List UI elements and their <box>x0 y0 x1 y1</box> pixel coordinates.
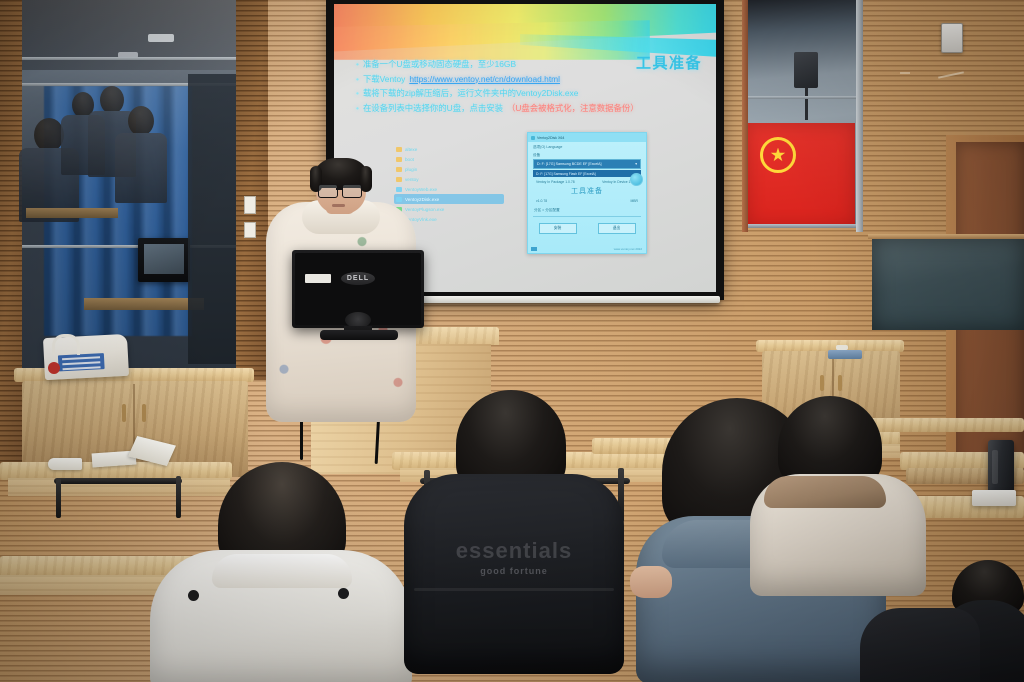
wall-pillar-left <box>0 0 24 470</box>
chevron-down-icon: ▾ <box>635 162 637 166</box>
device-dropdown-option[interactable]: D: F: [17G] Samsung Flash EF [ExcelA] <box>533 170 641 177</box>
star-icon <box>771 148 786 163</box>
cabinet-right-handle-icon-2[interactable] <box>838 375 842 391</box>
dialog-menubar[interactable]: 选项(O) Language <box>528 142 646 151</box>
tote-bag-handle <box>52 334 80 355</box>
status-indicator <box>531 247 537 251</box>
bullet-warning-text: （U盘会被格式化，注意数据备份） <box>507 102 639 116</box>
window-frame-vertical-left <box>742 0 748 232</box>
presenter-mouth <box>332 204 345 207</box>
communist-youth-league-flag <box>748 123 855 227</box>
student-black-jacket: essentials good fortune <box>404 390 654 682</box>
footer-text: www.ventoy.net 2022 <box>614 247 642 251</box>
blackboard-frame <box>868 234 1024 239</box>
speaker-mount <box>805 88 808 120</box>
dialog-big-text: 工具准备 <box>528 184 646 196</box>
bottle-stripe <box>992 450 998 484</box>
chalk <box>836 345 848 350</box>
monitor-asset-tag <box>305 274 331 283</box>
student-jacket <box>860 608 980 682</box>
version-package: Ventoy In Package 1.0.78 <box>536 180 575 184</box>
app-icon <box>531 136 535 140</box>
dialog-titlebar: Ventoy2Disk X64 <box>528 133 646 142</box>
student-white-jacket <box>150 462 410 682</box>
jacket-collar <box>212 554 352 588</box>
flag-star-emblem <box>760 137 796 173</box>
wall-control-panel[interactable] <box>941 23 963 53</box>
student-cream-jacket <box>756 396 936 596</box>
wall-speaker <box>794 52 818 88</box>
dialog-button-row: 安装 退出 <box>528 217 646 234</box>
exit-button[interactable]: 退出 <box>598 223 636 234</box>
bullet-marker: • <box>356 87 359 101</box>
sub-version-left: v1.0.78 <box>536 199 547 203</box>
red-keychain <box>48 362 60 374</box>
bullet-item-2: • 下载Ventoy https://www.ventoy.net/cn/dow… <box>356 73 656 87</box>
folder-icon <box>396 147 402 152</box>
jacket-toggle-2 <box>338 588 349 599</box>
install-button[interactable]: 安装 <box>539 223 577 234</box>
student-bottom-right <box>860 600 980 682</box>
version-row: Ventoy In Package 1.0.78 Ventoy In Devic… <box>528 177 646 184</box>
jacket-seam <box>414 588 614 591</box>
thermos-bottle <box>988 440 1014 494</box>
wall-scratch-2 <box>900 72 910 74</box>
device-combobox[interactable]: D: F: [17G] Samsung BCDE EF [ExcelA] ▾ <box>533 159 641 169</box>
presenter-glasses-bridge <box>336 188 342 190</box>
monitor-stand-base <box>320 330 398 340</box>
ventoy-download-link[interactable]: https://www.ventoy.net/cn/download.html <box>409 73 560 87</box>
tote-bag-print <box>58 353 105 371</box>
sub-version-right: MBR <box>630 199 638 203</box>
dell-logo: DELL <box>341 272 375 285</box>
reflected-doorway <box>188 74 236 364</box>
cabinet-handle-icon[interactable] <box>122 404 126 422</box>
wall-notice-small-2 <box>244 222 256 238</box>
bullet-item-4: • 在设备列表中选择你的U盘，点击安装 （U盘会被格式化，注意数据备份） <box>356 102 656 116</box>
cabinet-handle-icon-2[interactable] <box>142 404 146 422</box>
bullet-item-3: • 载将下载的zip解压缩后，运行文件夹中的Ventoy2Disk.exe <box>356 87 656 101</box>
bullet-item-1: • 准备一个U盘或移动固态硬盘，至少16GB <box>356 58 656 72</box>
bullet-marker: • <box>356 73 359 87</box>
wall-notice-small <box>244 196 256 214</box>
bullet-text: 在设备列表中选择你的U盘，点击安装 <box>363 102 503 116</box>
bullet-marker: • <box>356 102 359 116</box>
window-frame-vertical <box>856 0 863 232</box>
jacket-print-bottom: good fortune <box>404 566 624 576</box>
bullet-text: 准备一个U盘或移动固态硬盘，至少16GB <box>363 58 516 72</box>
classroom-photo: 工具准备 • 准备一个U盘或移动固态硬盘，至少16GB • 下载Ventoy h… <box>0 0 1024 682</box>
right-window-mullion <box>746 96 858 99</box>
file-name: altexe <box>405 147 417 152</box>
student-hand <box>630 566 672 598</box>
blackboard <box>872 238 1024 330</box>
bullet-marker: • <box>356 58 359 72</box>
slide-bullet-list: • 准备一个U盘或移动固态硬盘，至少16GB • 下载Ventoy https:… <box>356 58 656 116</box>
book-page-loose <box>48 458 82 470</box>
blackboard-eraser <box>828 350 862 359</box>
chair-leg <box>56 478 61 518</box>
device-label: 设备 <box>528 151 646 159</box>
ventoy2disk-dialog: Ventoy2Disk X64 选项(O) Language 设备 D: F: … <box>527 132 647 254</box>
file-row: altexe <box>394 144 504 154</box>
device-value: D: F: [17G] Samsung BCDE EF [ExcelA] <box>537 162 602 166</box>
partition-label: 分区 = 分区配置 <box>528 203 646 213</box>
jacket-print-top: essentials <box>404 538 624 564</box>
presenter-glasses-right-lens <box>342 184 362 198</box>
presenter-glasses-left-lens <box>318 184 338 198</box>
sub-version-row: v1.0.78 MBR <box>528 196 646 203</box>
cabinet-right-handle-icon[interactable] <box>820 375 824 391</box>
student-scarf <box>764 476 886 508</box>
bullet-text: 载将下载的zip解压缩后，运行文件夹中的Ventoy2Disk.exe <box>363 87 578 101</box>
dialog-title: Ventoy2Disk X64 <box>537 136 564 140</box>
white-box <box>972 490 1016 506</box>
bullet-text-prefix: 下载Ventoy <box>363 73 405 87</box>
dialog-footer: www.ventoy.net 2022 <box>531 247 642 251</box>
jacket-toggle <box>188 590 199 601</box>
refresh-button[interactable] <box>630 173 643 186</box>
right-window-sill <box>744 224 860 228</box>
